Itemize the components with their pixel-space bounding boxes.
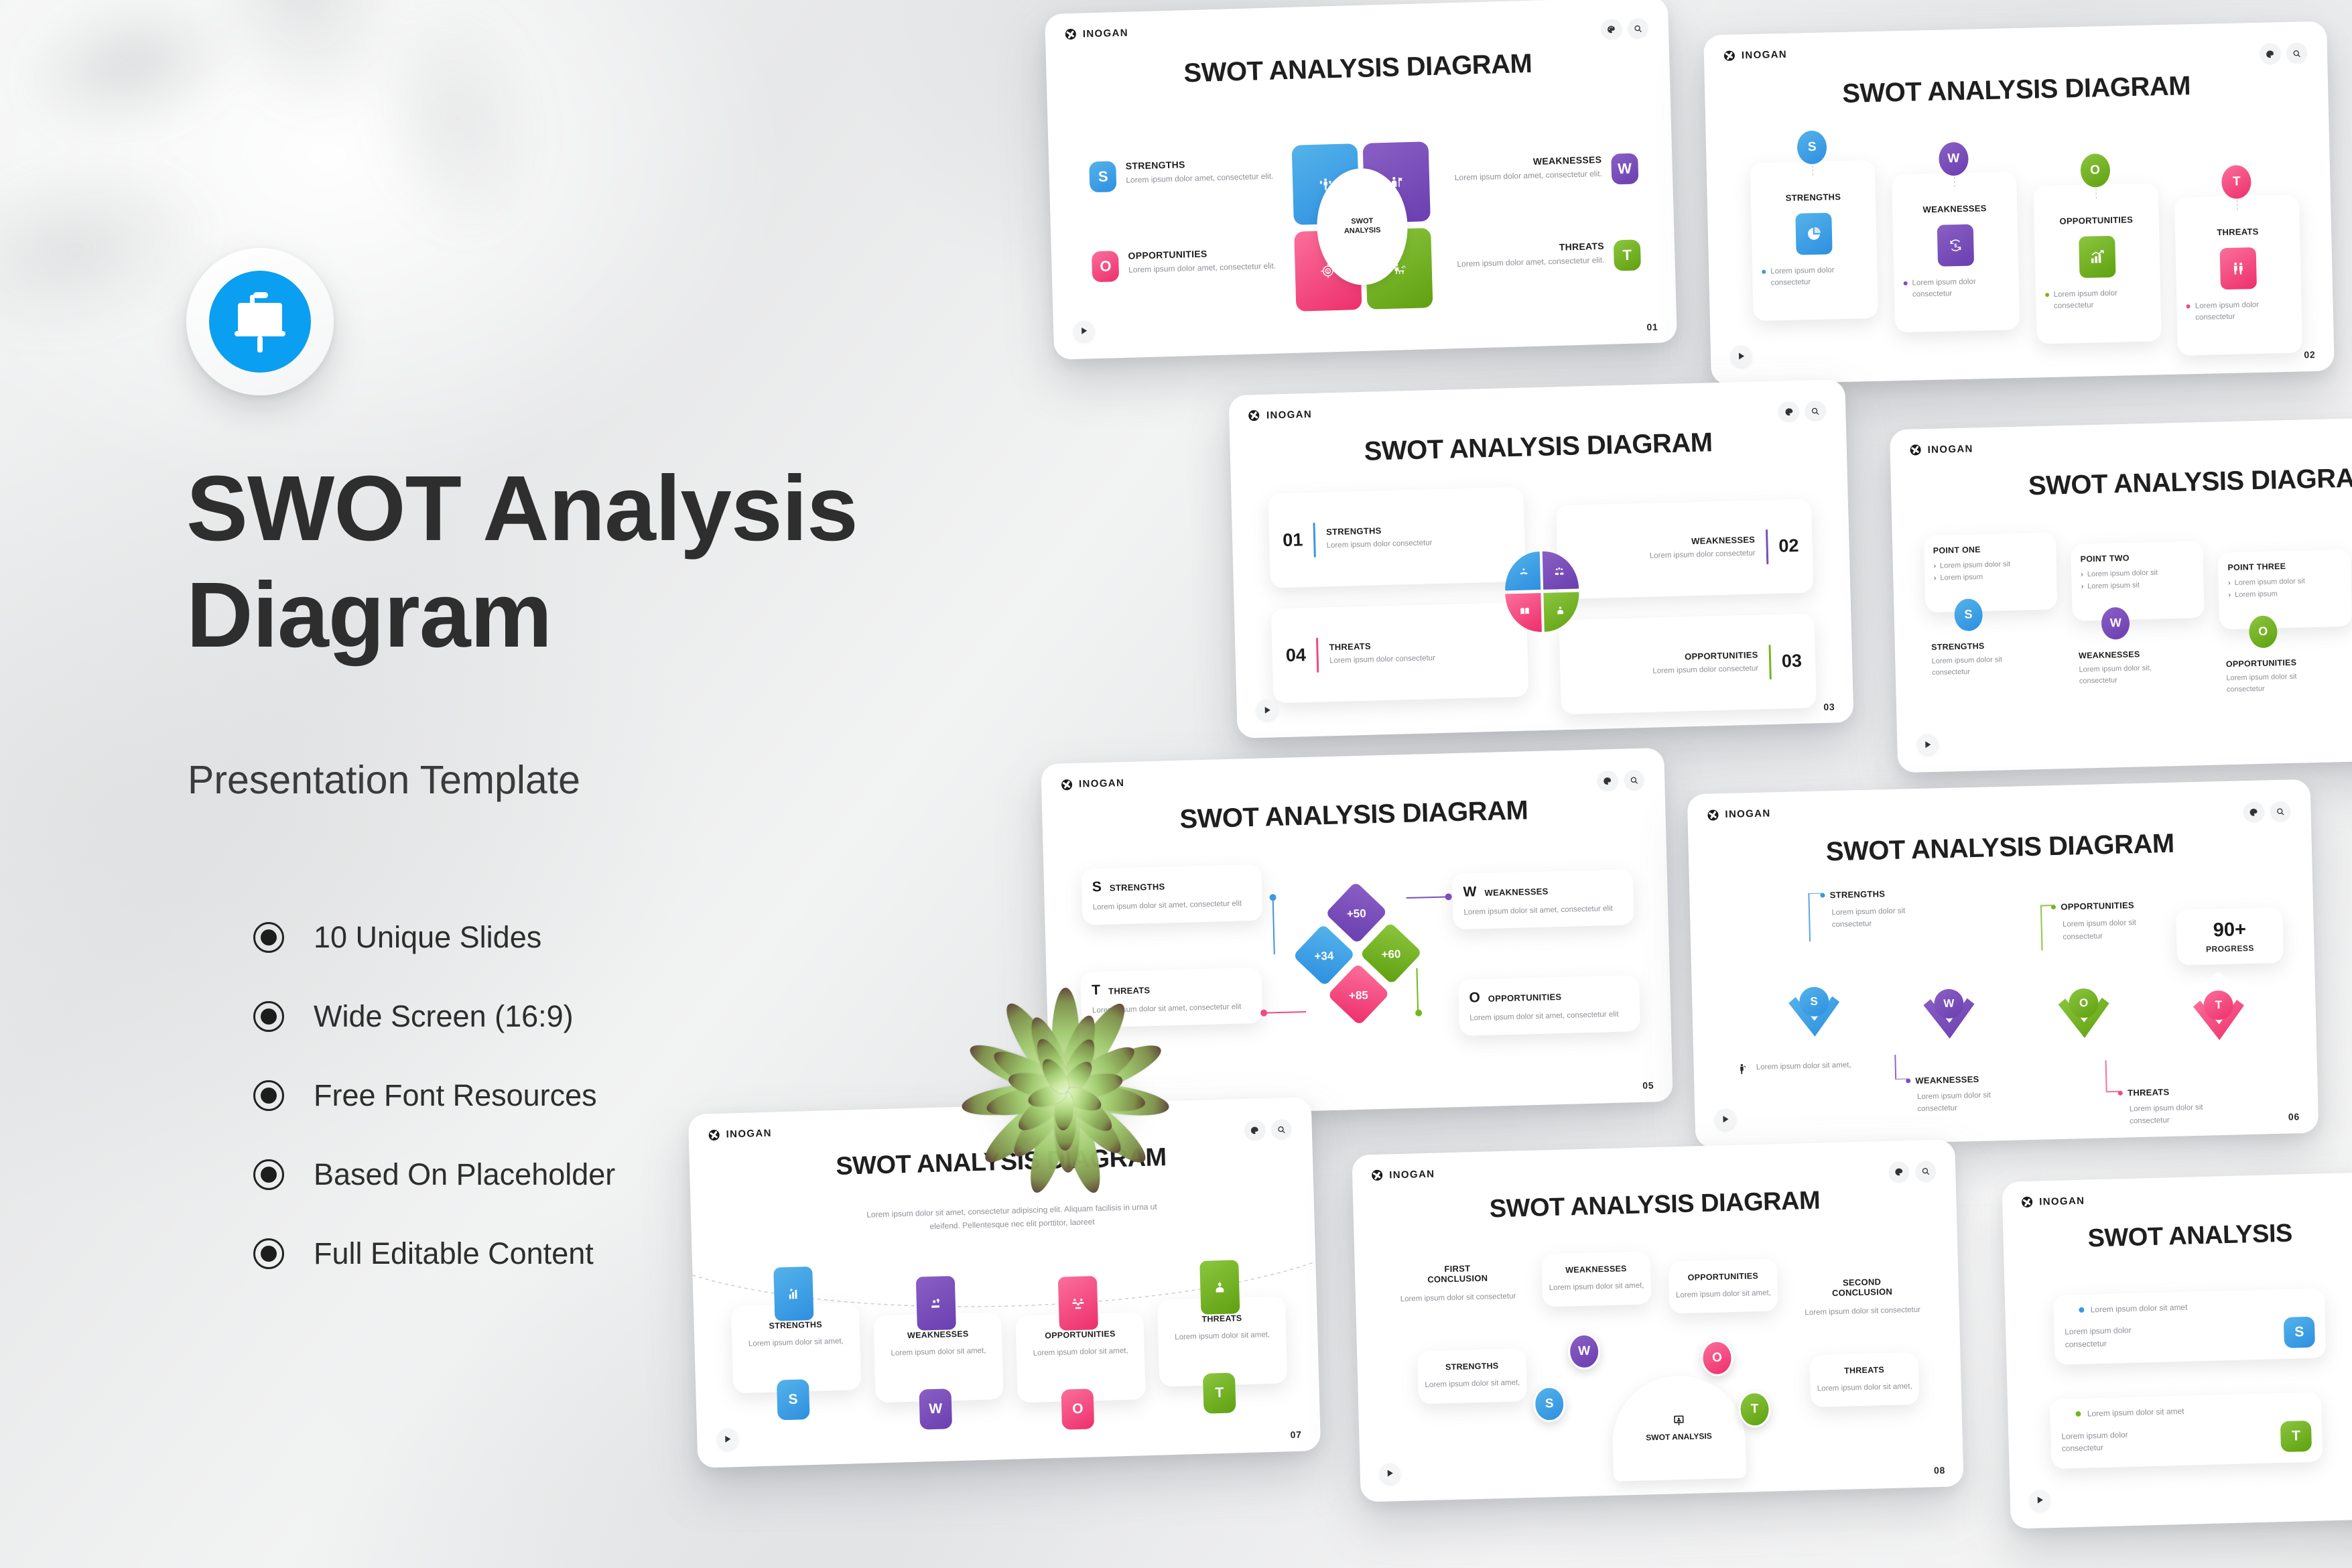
brand-name: INOGAN: [1079, 777, 1125, 790]
letter-badge-o: O: [1469, 990, 1480, 1006]
bullet-icon: [253, 1080, 284, 1111]
page-title-line-2: Diagram: [186, 562, 964, 669]
slide-number: 03: [1823, 701, 1835, 712]
presentation-board-icon: [209, 271, 311, 373]
item-label: OPPORTUNITIES: [1128, 247, 1275, 261]
slide-intro: Lorem ipsum dolor sit amet, consectetur …: [853, 1200, 1171, 1236]
swot-column-threats[interactable]: THREATS Lorem ipsum dolor sit amet, T: [1156, 1259, 1289, 1434]
letter-badge-t: T: [1614, 240, 1641, 271]
inogan-logo-icon: [2022, 1197, 2032, 1207]
item-bullet: Lorem ipsum dolor consectetur: [2195, 299, 2293, 324]
letter-badge-s: S: [1797, 131, 1827, 165]
succulent-plant: [965, 992, 1166, 1193]
swot-card-threats[interactable]: 04 THREATS Lorem ipsum dolor consectetur: [1271, 602, 1528, 703]
center-label-line-2: ANALYSIS: [1344, 226, 1381, 236]
callout-threats[interactable]: THREATS Lorem ipsum dolor sit consectetu…: [2118, 1086, 2223, 1128]
swot-card-opportunities[interactable]: OPPORTUNITIES Lorem ipsum dolor sit amet…: [1669, 1258, 1778, 1314]
letter-badge-s: S: [777, 1380, 810, 1421]
center-dome: SWOT ANALYSIS: [1611, 1374, 1746, 1482]
item-description: Lorem ipsum dolor sit consectetur: [1917, 1088, 2012, 1115]
item-description: Lorem ipsum dolor sit amet, consectetur …: [1463, 903, 1623, 919]
app-logo: [186, 248, 334, 395]
page-title: SWOT Analysis Diagram: [186, 456, 964, 668]
brand-name: INOGAN: [1725, 808, 1771, 821]
slide-brand: INOGAN: [1065, 27, 1128, 40]
svg-text:$: $: [1954, 243, 1957, 249]
item-description: Lorem ipsum dolor amet, consectetur elit…: [1126, 171, 1274, 187]
diamond-value: +34: [1314, 950, 1333, 964]
inogan-logo-icon: [1910, 444, 1920, 455]
foot-note: Lorem ipsum dolor sit amet,: [1756, 1059, 1851, 1074]
item-description: Lorem ipsum dolor consectetur: [1329, 653, 1435, 667]
letter-badge-w: W: [1567, 1333, 1600, 1370]
palette-icon[interactable]: [2260, 43, 2281, 64]
letter-badge-s: S: [1090, 161, 1117, 192]
play-icon[interactable]: [717, 1428, 738, 1449]
search-icon[interactable]: [1270, 1119, 1292, 1140]
inogan-logo-icon: [1372, 1170, 1382, 1181]
point-bullet: Lorem ipsum sit: [2087, 581, 2140, 590]
item-label: STRENGTHS: [1126, 157, 1273, 172]
item-label: WEAKNESSES: [1454, 154, 1602, 169]
pinwheel-strengths: [1504, 551, 1541, 591]
swot-card-strengths[interactable]: STRENGTHS Lorem ipsum dolor sit amet,: [1417, 1348, 1527, 1404]
swot-item-weaknesses[interactable]: WEAKNESSES Lorem ipsum dolor amet, conse…: [1426, 153, 1638, 190]
search-icon[interactable]: [1915, 1161, 1937, 1182]
slide-number: 02: [2304, 349, 2315, 360]
item-description: Lorem ipsum dolor sit amet,: [1425, 1377, 1520, 1392]
pinwheel-weaknesses: [1543, 550, 1579, 590]
letter-badge-o: O: [2080, 153, 2110, 188]
target-person-icon: [1199, 1260, 1240, 1315]
slide-title: SWOT ANALYSIS: [2087, 1220, 2292, 1254]
swot-column-strengths[interactable]: STRENGTHS Lorem ipsum dolor sit amet, S: [730, 1265, 863, 1445]
item-label: STRENGTHS: [1830, 889, 1886, 900]
item-label: STRENGTHS: [739, 1319, 852, 1332]
point-column-three[interactable]: POINT THREE ›Lorem ipsum dolor sit ›Lore…: [2218, 549, 2352, 737]
slide-brand: INOGAN: [1248, 408, 1312, 421]
item-label: STRENGTHS: [1425, 1361, 1520, 1373]
callout-weaknesses[interactable]: WEAKNESSES Lorem ipsum dolor sit consect…: [1906, 1073, 2011, 1116]
slide-preview-03[interactable]: INOGAN SWOT ANALYSIS DIAGRAM 01 STRENGTH…: [1228, 379, 1853, 738]
item-index: 01: [1283, 530, 1303, 551]
letter-badge-w: W: [1939, 142, 1969, 176]
slide-preview-02[interactable]: INOGAN SWOT ANALYSIS DIAGRAM S STRENGTHS: [1703, 21, 2335, 385]
slide-number: 07: [1290, 1429, 1301, 1440]
play-icon[interactable]: [1917, 734, 1939, 755]
item-label: STRENGTHS: [1931, 640, 2032, 652]
letter-badge-w: W: [1611, 153, 1638, 185]
item-label: WEAKNESSES: [1549, 1264, 1644, 1276]
feature-label: 10 Unique Slides: [314, 920, 541, 955]
marker-opportunities[interactable]: O: [2023, 960, 2144, 1043]
pinwheel-graphic: [1504, 550, 1580, 633]
idea-desk-icon: [916, 1276, 956, 1331]
group-icon: [1058, 1276, 1098, 1331]
letter-badge-s: S: [1092, 879, 1102, 895]
diamond-value: +50: [1347, 907, 1366, 921]
item-description: Lorem ipsum dolor sit amet, consectetur …: [1469, 1008, 1629, 1025]
point-heading: POINT TWO: [2080, 551, 2194, 564]
item-description: Lorem ipsum dolor sit amet,: [1817, 1380, 1912, 1395]
swot-card-threats[interactable]: Lorem ipsum dolor sit amet Lorem ipsum d…: [2050, 1392, 2323, 1469]
item-label: OPPORTUNITIES: [2043, 214, 2149, 227]
swot-card-strengths[interactable]: S STRENGTHS Lorem ipsum dolor sit amet, …: [1081, 864, 1263, 925]
point-bullet: Lorem ipsum dolor sit: [2087, 568, 2158, 578]
item-label: OPPORTUNITIES: [1488, 992, 1562, 1004]
bullet-icon: [253, 922, 284, 953]
item-bullet: Lorem ipsum dolor sit amet: [2087, 1407, 2184, 1419]
swot-card-opportunities[interactable]: OPPORTUNITIES Lorem ipsum dolor consecte…: [1559, 614, 1817, 714]
swot-card-weaknesses[interactable]: WEAKNESSES Lorem ipsum dolor consectetur…: [1556, 499, 1813, 599]
slide-corner-actions[interactable]: [1778, 401, 1826, 423]
slide-brand: INOGAN: [2022, 1195, 2085, 1207]
item-label: WEAKNESSES: [1902, 203, 2008, 216]
point-bullet: Lorem ipsum dolor sit: [2235, 577, 2305, 587]
search-icon[interactable]: [2270, 801, 2291, 822]
swot-item-strengths[interactable]: S STRENGTHS Lorem ipsum dolor amet, cons…: [1090, 155, 1302, 192]
slide-preview-08[interactable]: INOGAN SWOT ANALYSIS DIAGRAM FIRST CONCL…: [1352, 1139, 1963, 1502]
brand-name: INOGAN: [1389, 1168, 1435, 1181]
slide-brand: INOGAN: [1910, 443, 1973, 456]
item-label: OPPORTUNITIES: [1675, 1271, 1770, 1283]
swot-card-opportunities[interactable]: O OPPORTUNITIES Lorem ipsum dolor sit am…: [1458, 975, 1640, 1036]
item-bullet: Lorem ipsum dolor consectetur: [1912, 276, 2010, 302]
item-label: WEAKNESSES: [1649, 535, 1755, 547]
item-index: 02: [1778, 535, 1799, 557]
slide-preview-06[interactable]: INOGAN SWOT ANALYSIS DIAGRAM STRENGTHS L…: [1687, 779, 2319, 1149]
letter-badge-s: S: [1533, 1386, 1566, 1423]
diamond-cluster: +50 +34 +60 +85: [1299, 889, 1416, 1026]
item-description: Lorem ipsum dolor consectetur: [1650, 548, 1756, 563]
play-icon[interactable]: [1379, 1463, 1400, 1484]
marker-weaknesses[interactable]: W: [1888, 964, 2010, 1047]
slide-title: SWOT ANALYSIS DIAGRAM: [1353, 1183, 1957, 1228]
item-description: Lorem ipsum dolor consectetur: [2061, 1428, 2142, 1455]
swot-column-weaknesses[interactable]: W WEAKNESSES $ Lorem ipsum dolor consect…: [1891, 141, 2020, 332]
item-label: STRENGTHS: [1326, 524, 1432, 537]
inogan-logo-icon: [1248, 410, 1259, 421]
swot-card-weaknesses[interactable]: W WEAKNESSES Lorem ipsum dolor sit amet,…: [1452, 869, 1634, 930]
bullet-icon: [253, 1238, 284, 1269]
item-description: Lorem ipsum dolor consectetur: [1326, 537, 1432, 552]
center-label: SWOT ANALYSIS: [1646, 1431, 1712, 1443]
letter-badge-t: T: [1738, 1390, 1771, 1427]
item-description: Lorem ipsum dolor amet, consectetur elit…: [1455, 168, 1603, 184]
slide-brand: INOGAN: [708, 1128, 772, 1141]
swot-card-threats[interactable]: THREATS Lorem ipsum dolor sit amet,: [1809, 1352, 1919, 1408]
item-bullet: Lorem ipsum dolor consectetur: [2054, 287, 2152, 313]
item-label: THREATS: [1166, 1313, 1279, 1325]
item-description: Lorem ipsum dolor sit amet, consectetur …: [1092, 898, 1252, 914]
slide-title: SWOT ANALYSIS DIAGRAM: [1688, 825, 2312, 870]
person-presenter-icon: [1738, 1062, 1750, 1077]
swot-item-threats[interactable]: THREATS Lorem ipsum dolor amet, consecte…: [1429, 240, 1641, 277]
item-label: WEAKNESSES: [1484, 886, 1548, 897]
feature-label: Free Font Resources: [314, 1078, 597, 1113]
point-bullet: Lorem ipsum: [2235, 590, 2278, 599]
slide-corner-actions[interactable]: [1601, 18, 1649, 40]
search-icon[interactable]: [1627, 18, 1648, 40]
swot-column-opportunities[interactable]: OPPORTUNITIES Lorem ipsum dolor sit amet…: [1015, 1275, 1147, 1438]
bullet-icon: [253, 1159, 284, 1190]
brand-name: INOGAN: [726, 1128, 772, 1140]
letter-badge-t: T: [2221, 165, 2251, 199]
item-label: WEAKNESSES: [2079, 649, 2179, 661]
list-item: Wide Screen (16:9): [253, 977, 923, 1056]
bar-chart-icon: [773, 1266, 813, 1321]
page-subtitle: Presentation Template: [188, 757, 580, 803]
list-item: 10 Unique Slides: [253, 898, 923, 977]
item-index: 04: [1285, 645, 1306, 666]
point-heading: POINT THREE: [2227, 560, 2341, 572]
slide-brand: INOGAN: [1061, 777, 1125, 790]
item-description: Lorem ipsum dolor sit consectetur: [1932, 653, 2033, 679]
swot-column-weaknesses[interactable]: WEAKNESSES Lorem ipsum dolor sit amet, W: [872, 1275, 1005, 1441]
search-icon[interactable]: [1805, 401, 1826, 422]
item-label: OPPORTUNITIES: [2061, 900, 2134, 912]
item-label: OPPORTUNITIES: [1652, 649, 1758, 662]
letter-badge-s: S: [1954, 598, 1983, 631]
swot-card-strengths[interactable]: Lorem ipsum dolor sit amet Lorem ipsum d…: [2053, 1288, 2327, 1365]
item-label: THREATS: [1817, 1364, 1912, 1376]
play-icon[interactable]: [1715, 1108, 1736, 1130]
brand-name: INOGAN: [1927, 443, 1973, 456]
callout-footnote: Lorem ipsum dolor sit amet,: [1738, 1058, 1900, 1077]
people-icon: [2220, 247, 2257, 289]
palette-icon[interactable]: [2243, 801, 2264, 823]
slide-corner-actions[interactable]: [2260, 42, 2308, 64]
search-icon[interactable]: [2286, 42, 2307, 64]
play-icon[interactable]: [2029, 1490, 2050, 1511]
item-label: THREATS: [2128, 1087, 2170, 1098]
letter-badge-o: O: [1092, 251, 1119, 282]
item-description: Lorem ipsum dolor sit amet,: [1549, 1280, 1644, 1295]
diamond-value: +85: [1349, 989, 1368, 1003]
pie-chart-icon: [1795, 213, 1832, 255]
swot-column-threats[interactable]: T THREATS Lorem ipsum dolor consectetur: [2174, 164, 2303, 356]
dollar-exchange-icon: $: [1937, 224, 1974, 267]
item-description: Lorem ipsum dolor sit amet,: [1166, 1329, 1279, 1344]
slide-brand: INOGAN: [1723, 49, 1787, 62]
letter-badge-t: T: [1203, 1373, 1236, 1414]
item-label: THREATS: [2184, 226, 2290, 239]
swot-column-opportunities[interactable]: O OPPORTUNITIES Lorem ipsum dolor consec…: [2032, 152, 2162, 344]
inogan-logo-icon: [1707, 809, 1718, 820]
item-label: WEAKNESSES: [882, 1329, 994, 1342]
item-description: Lorem ipsum dolor amet, consectetur elit…: [1128, 261, 1277, 277]
page-title-line-1: SWOT Analysis: [186, 456, 964, 562]
item-description: Lorem ipsum dolor amet, consectetur elit…: [1457, 255, 1605, 271]
slide-preview-01[interactable]: INOGAN SWOT ANALYSIS DIAGRAM S STRENGTHS…: [1045, 0, 1677, 360]
slide-corner-actions[interactable]: [1244, 1119, 1292, 1141]
point-column-two[interactable]: POINT TWO ›Lorem ipsum dolor sit ›Lorem …: [2071, 541, 2207, 741]
inogan-logo-icon: [708, 1130, 719, 1140]
feature-label: Wide Screen (16:9): [314, 999, 574, 1034]
item-description: Lorem ipsum dolor consectetur: [1652, 663, 1758, 677]
feature-label: Full Editable Content: [314, 1236, 594, 1271]
progress-label: PROGRESS: [2182, 943, 2278, 954]
letter-badge-o: O: [1701, 1340, 1734, 1376]
letter-badge-w: W: [1463, 884, 1476, 901]
slide-number: 06: [2288, 1111, 2300, 1122]
inogan-logo-icon: [1061, 779, 1072, 790]
palette-icon[interactable]: [1244, 1120, 1265, 1141]
slide-preview-04[interactable]: INOGAN SWOT ANALYSIS DIAGRAM POINT ONE ›…: [1890, 415, 2352, 773]
brand-name: INOGAN: [2039, 1195, 2085, 1207]
slide-title: SWOT ANALYSIS DIAGRAM: [1705, 68, 2329, 113]
letter-badge-o: O: [2249, 615, 2278, 648]
item-label: STRENGTHS: [1110, 882, 1165, 893]
growth-chart-icon: [2079, 236, 2115, 278]
letter-badge-s: S: [2284, 1317, 2315, 1348]
item-description: Lorem ipsum dolor sit amet,: [1676, 1287, 1771, 1302]
letter-badge-t: T: [2280, 1421, 2312, 1452]
slide-number: 01: [1646, 321, 1658, 332]
item-index: 03: [1781, 651, 1802, 672]
item-label: THREATS: [1329, 639, 1435, 652]
item-description: Lorem ipsum dolor sit amet,: [1023, 1345, 1138, 1360]
play-icon[interactable]: [1730, 346, 1752, 367]
brand-name: INOGAN: [1266, 408, 1313, 421]
item-description: Lorem ipsum dolor sit amet,: [883, 1345, 995, 1360]
item-description: Lorem ipsum dolor sit consectetur: [2063, 917, 2157, 943]
presenter-board-icon: [1672, 1414, 1685, 1427]
inogan-logo-icon: [1065, 29, 1075, 40]
palette-icon[interactable]: [1601, 19, 1622, 40]
item-label: OPPORTUNITIES: [2226, 657, 2327, 669]
slide-corner-actions[interactable]: [1888, 1161, 1937, 1183]
conclusion-description: Lorem ipsum dolor sit consectetur: [1796, 1303, 1929, 1320]
point-bullet: Lorem ipsum dolor sit: [1940, 560, 2010, 570]
item-description: Lorem ipsum dolor consectetur: [2065, 1324, 2146, 1351]
slide-title: SWOT ANALYSIS DIAGRAM: [1891, 459, 2352, 505]
slide-number: 08: [1934, 1465, 1945, 1476]
conclusion-second: SECOND CONCLUSION Lorem ipsum dolor sit …: [1795, 1275, 1929, 1320]
item-label: OPPORTUNITIES: [1023, 1329, 1138, 1342]
item-label: WEAKNESSES: [1915, 1074, 1979, 1086]
marker-strengths[interactable]: S: [1754, 967, 1875, 1050]
item-description: Lorem ipsum dolor sit consectetur: [1831, 905, 1926, 931]
palette-icon[interactable]: [1597, 770, 1618, 791]
item-bullet: Lorem ipsum dolor sit amet: [2091, 1303, 2188, 1315]
item-label: THREATS: [1457, 241, 1604, 255]
item-bullet: Lorem ipsum dolor consectetur: [1770, 264, 1868, 289]
center-label-line-1: SWOT: [1351, 217, 1373, 227]
item-description: Lorem ipsum dolor sit amet,: [740, 1335, 852, 1351]
item-description: Lorem ipsum dolor sit, consectetur: [2079, 662, 2180, 688]
search-icon[interactable]: [1624, 769, 1645, 791]
swot-card-weaknesses[interactable]: WEAKNESSES Lorem ipsum dolor sit amet,: [1541, 1252, 1651, 1307]
feature-label: Based On Placeholder: [314, 1157, 615, 1192]
conclusion-description: Lorem ipsum dolor sit consectetur: [1392, 1290, 1524, 1307]
palette-icon[interactable]: [1778, 401, 1799, 423]
conclusion-first: FIRST CONCLUSION Lorem ipsum dolor sit c…: [1391, 1262, 1525, 1307]
slide-title: SWOT ANALYSIS DIAGRAM: [1230, 424, 1847, 470]
point-column-one[interactable]: POINT ONE ›Lorem ipsum dolor sit ›Lorem …: [1923, 532, 2061, 744]
swot-card-strengths[interactable]: 01 STRENGTHS Lorem ipsum dolor consectet…: [1268, 487, 1526, 588]
brand-name: INOGAN: [1083, 27, 1129, 40]
letter-badge-o: O: [1061, 1389, 1095, 1430]
callout-opportunities[interactable]: OPPORTUNITIES Lorem ipsum dolor sit cons…: [2051, 900, 2156, 944]
item-label: STRENGTHS: [1760, 191, 1866, 204]
pinwheel-threats: [1505, 593, 1541, 633]
slide-brand: INOGAN: [1372, 1168, 1435, 1181]
letter-badge-w: W: [919, 1389, 952, 1430]
point-heading: POINT ONE: [1933, 543, 2047, 555]
item-description: Lorem ipsum dolor sit consectetur: [2130, 1101, 2224, 1128]
slide-number: 05: [1642, 1080, 1654, 1091]
slide-title: SWOT ANALYSIS DIAGRAM: [1046, 45, 1670, 92]
pinwheel-opportunities: [1544, 592, 1580, 632]
bullet-icon: [253, 1001, 284, 1032]
slide-title: SWOT ANALYSIS DIAGRAM: [1042, 792, 1666, 838]
inogan-logo-icon: [1723, 50, 1734, 61]
slide-corner-actions[interactable]: [1597, 769, 1645, 791]
palette-icon[interactable]: [1888, 1161, 1910, 1183]
point-bullet: Lorem ipsum: [1940, 573, 1983, 582]
slide-preview-09[interactable]: INOGAN SWOT ANALYSIS Lorem ipsum dolor s…: [2002, 1166, 2352, 1528]
play-icon[interactable]: [1256, 699, 1278, 720]
callout-strengths[interactable]: STRENGTHS Lorem ipsum dolor sit consecte…: [1821, 888, 1926, 932]
progress-value: 90+: [2182, 918, 2278, 942]
slide-brand: INOGAN: [1707, 808, 1771, 821]
slide-corner-actions[interactable]: [2243, 801, 2291, 823]
item-description: Lorem ipsum dolor sit consectetur: [2226, 670, 2327, 696]
play-icon[interactable]: [1073, 320, 1095, 342]
swot-item-opportunities[interactable]: O OPPORTUNITIES Lorem ipsum dolor amet, …: [1092, 245, 1304, 282]
diamond-value: +60: [1381, 948, 1400, 962]
brand-name: INOGAN: [1742, 49, 1787, 62]
swot-column-strengths[interactable]: S STRENGTHS Lorem ipsum dolor consectetu…: [1750, 129, 1879, 321]
marker-threats[interactable]: T: [2158, 957, 2279, 1040]
